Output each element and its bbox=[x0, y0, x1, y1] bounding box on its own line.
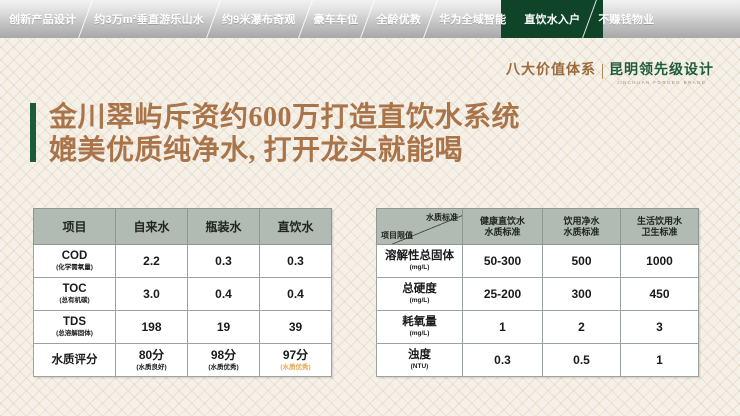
row-label-oxygen-consumption: 耗氧量 (mg/L) bbox=[377, 311, 463, 344]
cell-value: 198 bbox=[116, 311, 188, 344]
cell-value: 1 bbox=[621, 344, 699, 377]
row-label-tds: TDS (总溶解固体) bbox=[34, 311, 116, 344]
cell-main: 97分 bbox=[262, 349, 329, 362]
cell-main: 0.4 bbox=[190, 288, 257, 301]
cell-value: 0.4 bbox=[188, 278, 260, 311]
cell-value-highlight: 0.3 bbox=[463, 344, 543, 377]
headline-block: 金川翠屿斥资约600万打造直饮水系统 媲美优质纯净水, 打开龙头就能喝 bbox=[30, 101, 520, 167]
cell-value: 300 bbox=[543, 278, 621, 311]
headline-text: 金川翠屿斥资约600万打造直饮水系统 媲美优质纯净水, 打开龙头就能喝 bbox=[49, 101, 520, 167]
nav-item-3[interactable]: 豪车车位 bbox=[305, 0, 368, 38]
cell-value: 80分 (水质良好) bbox=[116, 344, 188, 377]
cell-main: 3 bbox=[623, 321, 696, 334]
col-header-bottled-water: 瓶装水 bbox=[188, 209, 260, 245]
nav-item-label: 约3万m²垂直游乐山水 bbox=[94, 11, 204, 27]
cell-value-highlight: 0.3 bbox=[260, 245, 332, 278]
cell-main: 2 bbox=[545, 321, 618, 334]
cell-main: 1000 bbox=[623, 255, 696, 268]
table-header-row: 水质标准 项目限值 健康直饮水 水质标准 饮用净水 水质标准 生活饮用水 卫生标… bbox=[377, 209, 699, 245]
cell-main: 80分 bbox=[118, 349, 185, 362]
cell-value-highlight: 0.4 bbox=[260, 278, 332, 311]
cell-main: 98分 bbox=[190, 349, 257, 362]
row-label-sub: (NTU) bbox=[379, 363, 460, 371]
row-label-main: 水质评分 bbox=[36, 354, 113, 367]
cell-main: 300 bbox=[545, 288, 618, 301]
row-label-sub: (mg/L) bbox=[379, 297, 460, 305]
brand-sub-title: 昆明领先级设计 bbox=[609, 62, 714, 79]
cell-main: 0.4 bbox=[262, 288, 329, 301]
cell-value: 2 bbox=[543, 311, 621, 344]
cell-main: 50-300 bbox=[465, 255, 540, 268]
headline-line-1: 金川翠屿斥资约600万打造直饮水系统 bbox=[49, 101, 520, 134]
col-header-line1: 生活饮用水 bbox=[623, 216, 696, 227]
row-label-cod: COD (化学需氧量) bbox=[34, 245, 116, 278]
cell-value: 450 bbox=[621, 278, 699, 311]
col-header-domestic-drinking-standard: 生活饮用水 卫生标准 bbox=[621, 209, 699, 245]
cell-main: 500 bbox=[545, 255, 618, 268]
row-label-main: 总硬度 bbox=[379, 283, 460, 296]
cell-main: 39 bbox=[262, 321, 329, 334]
brand-english-tagline: JINCHUAN FORGED BRAND bbox=[609, 80, 714, 85]
row-label-sub: (mg/L) bbox=[379, 264, 460, 272]
nav-item-0[interactable]: 创新产品设计 bbox=[0, 0, 85, 38]
brand-main-title: 八大价值体系 bbox=[506, 62, 596, 80]
cell-main: 1 bbox=[623, 354, 696, 367]
row-label-turbidity: 浊度 (NTU) bbox=[377, 344, 463, 377]
corner-header-bottom-label: 项目限值 bbox=[381, 230, 413, 241]
col-header-line1: 健康直饮水 bbox=[465, 216, 540, 227]
cell-main: 19 bbox=[190, 321, 257, 334]
table-row: COD (化学需氧量) 2.2 0.3 0.3 bbox=[34, 245, 332, 278]
nav-item-label: 直饮水入户 bbox=[524, 11, 580, 27]
water-comparison-table: 项目 自来水 瓶装水 直饮水 COD (化学需氧量) 2.2 0.3 bbox=[33, 208, 332, 377]
cell-value-highlight: 25-200 bbox=[463, 278, 543, 311]
cell-sub: (水质优秀) bbox=[190, 363, 257, 372]
cell-value-highlight: 39 bbox=[260, 311, 332, 344]
col-header-item: 项目 bbox=[34, 209, 116, 245]
cell-value: 3.0 bbox=[116, 278, 188, 311]
cell-main: 0.3 bbox=[465, 354, 540, 367]
row-label-main: COD bbox=[36, 250, 113, 263]
col-header-line2: 卫生标准 bbox=[623, 227, 696, 238]
row-label-sub: (总有机碳) bbox=[36, 297, 113, 305]
col-header-purified-drinking-standard: 饮用净水 水质标准 bbox=[543, 209, 621, 245]
top-navigation-bar: 创新产品设计 约3万m²垂直游乐山水 约9米瀑布奇观 豪车车位 全龄优教 华为全… bbox=[0, 0, 740, 38]
cell-sub: (水质优秀) bbox=[262, 363, 329, 372]
row-label-sub: (化学需氧量) bbox=[36, 264, 113, 272]
brand-divider bbox=[602, 64, 603, 79]
table-header-row: 项目 自来水 瓶装水 直饮水 bbox=[34, 209, 332, 245]
tables-container: 项目 自来水 瓶装水 直饮水 COD (化学需氧量) 2.2 0.3 bbox=[33, 208, 709, 377]
col-header-healthy-direct-drinking-standard: 健康直饮水 水质标准 bbox=[463, 209, 543, 245]
cell-main: 25-200 bbox=[465, 288, 540, 301]
nav-item-1[interactable]: 约3万m²垂直游乐山水 bbox=[85, 0, 213, 38]
col-header-direct-drinking-water: 直饮水 bbox=[260, 209, 332, 245]
nav-item-4[interactable]: 全龄优教 bbox=[367, 0, 430, 38]
cell-value-highlight: 50-300 bbox=[463, 245, 543, 278]
col-header-line1: 饮用净水 bbox=[545, 216, 618, 227]
row-label-sub: (总溶解固体) bbox=[36, 330, 113, 338]
cell-value: 2.2 bbox=[116, 245, 188, 278]
slide-root: 创新产品设计 约3万m²垂直游乐山水 约9米瀑布奇观 豪车车位 全龄优教 华为全… bbox=[0, 0, 740, 416]
col-header-tap-water: 自来水 bbox=[116, 209, 188, 245]
cell-value: 98分 (水质优秀) bbox=[188, 344, 260, 377]
corner-header-diagonal: 水质标准 项目限值 bbox=[377, 209, 463, 245]
brand-secondary-group: 昆明领先级设计 JINCHUAN FORGED BRAND bbox=[609, 62, 714, 85]
nav-item-label: 不赚钱物业 bbox=[598, 11, 654, 27]
cell-main: 0.3 bbox=[262, 255, 329, 268]
table-row: 总硬度 (mg/L) 25-200 300 450 bbox=[377, 278, 699, 311]
row-label-water-quality-score: 水质评分 bbox=[34, 344, 116, 377]
cell-main: 0.3 bbox=[190, 255, 257, 268]
nav-item-7[interactable]: 不赚钱物业 bbox=[589, 0, 663, 38]
cell-value-highlight: 1 bbox=[463, 311, 543, 344]
cell-value: 0.5 bbox=[543, 344, 621, 377]
cell-main: 3.0 bbox=[118, 288, 185, 301]
headline-line-2: 媲美优质纯净水, 打开龙头就能喝 bbox=[49, 134, 520, 167]
nav-item-label: 约9米瀑布奇观 bbox=[222, 11, 296, 27]
cell-value: 3 bbox=[621, 311, 699, 344]
cell-main: 1 bbox=[465, 321, 540, 334]
cell-main: 0.5 bbox=[545, 354, 618, 367]
table-row: TOC (总有机碳) 3.0 0.4 0.4 bbox=[34, 278, 332, 311]
table-row: 浊度 (NTU) 0.3 0.5 1 bbox=[377, 344, 699, 377]
cell-main: 450 bbox=[623, 288, 696, 301]
row-label-main: 溶解性总固体 bbox=[379, 250, 460, 263]
cell-value: 500 bbox=[543, 245, 621, 278]
cell-value: 1000 bbox=[621, 245, 699, 278]
nav-item-label: 创新产品设计 bbox=[9, 11, 76, 27]
nav-item-2[interactable]: 约9米瀑布奇观 bbox=[213, 0, 305, 38]
row-label-dissolved-solids: 溶解性总固体 (mg/L) bbox=[377, 245, 463, 278]
nav-item-label: 华为全域智能 bbox=[439, 11, 506, 27]
table-row: 溶解性总固体 (mg/L) 50-300 500 1000 bbox=[377, 245, 699, 278]
cell-main: 198 bbox=[118, 321, 185, 334]
row-label-total-hardness: 总硬度 (mg/L) bbox=[377, 278, 463, 311]
col-header-line2: 水质标准 bbox=[465, 227, 540, 238]
cell-value: 19 bbox=[188, 311, 260, 344]
nav-item-label: 豪车车位 bbox=[314, 11, 359, 27]
cell-sub: (水质良好) bbox=[118, 363, 185, 372]
row-label-main: 浊度 bbox=[379, 349, 460, 362]
headline-accent-bar bbox=[30, 103, 36, 162]
cell-value-highlight: 97分 (水质优秀) bbox=[260, 344, 332, 377]
row-label-toc: TOC (总有机碳) bbox=[34, 278, 116, 311]
brand-lockup: 八大价值体系 昆明领先级设计 JINCHUAN FORGED BRAND bbox=[506, 62, 714, 85]
water-standards-table: 水质标准 项目限值 健康直饮水 水质标准 饮用净水 水质标准 生活饮用水 卫生标… bbox=[376, 208, 699, 377]
nav-item-label: 全龄优教 bbox=[376, 11, 421, 27]
row-label-sub: (mg/L) bbox=[379, 330, 460, 338]
row-label-main: TOC bbox=[36, 283, 113, 296]
cell-value: 0.3 bbox=[188, 245, 260, 278]
table-row: TDS (总溶解固体) 198 19 39 bbox=[34, 311, 332, 344]
col-header-line2: 水质标准 bbox=[545, 227, 618, 238]
nav-item-active-direct-drinking-water[interactable]: 直饮水入户 bbox=[515, 0, 589, 38]
table-row: 耗氧量 (mg/L) 1 2 3 bbox=[377, 311, 699, 344]
row-label-main: 耗氧量 bbox=[379, 316, 460, 329]
row-label-main: TDS bbox=[36, 316, 113, 329]
table-row: 水质评分 80分 (水质良好) 98分 (水质优秀) 97分 (水质优秀) bbox=[34, 344, 332, 377]
corner-header-top-label: 水质标准 bbox=[426, 212, 458, 223]
cell-main: 2.2 bbox=[118, 255, 185, 268]
